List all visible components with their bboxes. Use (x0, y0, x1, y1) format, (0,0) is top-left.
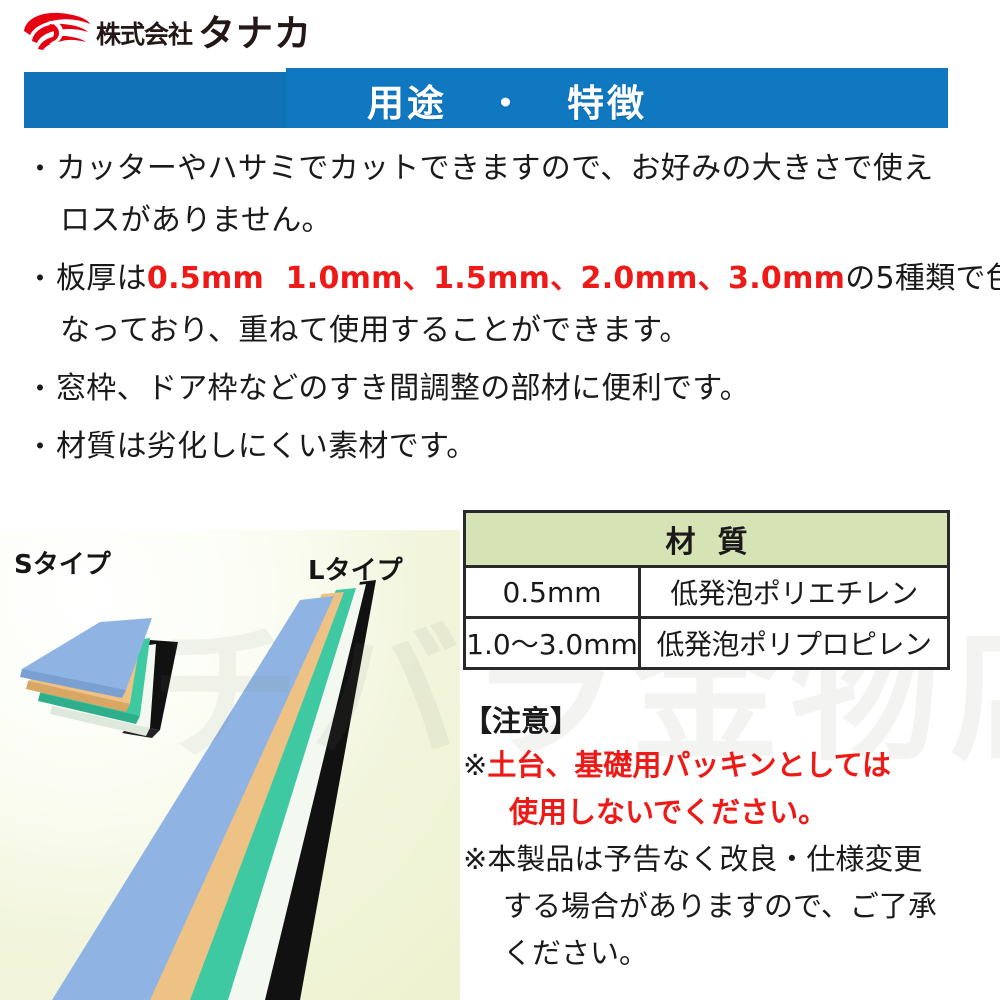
list-item-text: 板厚は0.5mm 1.0mm、1.5mm、2.0mm、3.0mmの5種類で色別に… (56, 253, 1000, 357)
caution-warning-line2: 使用しないでください。 (463, 789, 983, 836)
feature-list: ・ カッターやハサミでカットできますので、お好みの大きさで使え ロスがありません… (22, 143, 978, 479)
caution-block: 【注意】 ※土台、基礎用パッキンとしては 使用しないでください。 ※本製品は予告… (463, 700, 983, 977)
caution-disclaimer-line2: する場合がありますので、ご了承 (463, 883, 983, 930)
table-header-material: 材質 (465, 512, 949, 567)
brand-header: 株式会社 タナカ (0, 0, 1000, 62)
bullet-mark-icon: ・ (22, 253, 56, 305)
label-l-type: Lタイプ (308, 550, 403, 587)
material-table: 材質 0.5mm 低発泡ポリエチレン 1.0〜3.0mm 低発泡ポリプロピレン (463, 510, 950, 670)
label-s-type: Sタイプ (14, 544, 111, 581)
thickness-value: 3.0mm (728, 261, 845, 296)
thickness-value: 1.0mm (286, 261, 403, 296)
caution-disclaimer-line3: ください。 (463, 930, 983, 977)
company-name: タナカ (198, 15, 312, 52)
cell-material: 低発泡ポリエチレン (640, 567, 949, 618)
list-item-line: ロスがありません。 (56, 195, 978, 247)
note-mark-icon: ※ (463, 842, 487, 876)
bullet-mark-icon: ・ (22, 421, 56, 473)
cell-material: 低発泡ポリプロピレン (640, 618, 949, 669)
list-item-line: 材質は劣化しにくい素材です。 (56, 421, 978, 473)
list-item: ・ 材質は劣化しにくい素材です。 (22, 421, 978, 473)
caution-warning-line1: 土台、基礎用パッキンとしては (487, 748, 891, 782)
caution-note-disclaimer: ※本製品は予告なく改良・仕様変更 する場合がありますので、ご了承 ください。 (463, 836, 983, 977)
thickness-value: 0.5mm (147, 261, 264, 296)
section-banner: 用途 ・ 特徴 (24, 72, 948, 128)
s-type-sheet-stack (20, 618, 178, 738)
list-item-text: カッターやハサミでカットできますので、お好みの大きさで使え ロスがありません。 (56, 143, 978, 247)
note-mark-icon: ※ (463, 748, 487, 782)
bullet-mark-icon: ・ (22, 363, 56, 415)
list-item-line: 窓枠、ドア枠などのすき間調整の部材に便利です。 (56, 363, 978, 415)
thickness-value: 2.0mm (581, 261, 698, 296)
cell-thickness: 1.0〜3.0mm (465, 618, 640, 669)
caution-disclaimer-line1: 本製品は予告なく改良・仕様変更 (487, 842, 922, 876)
tanaka-swoosh-logo-icon (18, 11, 92, 53)
list-item-line: なっており、重ねて使用することができます。 (56, 305, 1000, 357)
table-header-row: 材質 (465, 512, 949, 567)
list-item-line: カッターやハサミでカットできますので、お好みの大きさで使え (56, 143, 978, 195)
caution-note-warning: ※土台、基礎用パッキンとしては 使用しないでください。 (463, 742, 983, 836)
list-item-text: 窓枠、ドア枠などのすき間調整の部材に便利です。 (56, 363, 978, 415)
table-row: 1.0〜3.0mm 低発泡ポリプロピレン (465, 618, 949, 669)
caution-title: 【注意】 (463, 700, 983, 742)
list-item: ・ 窓枠、ドア枠などのすき間調整の部材に便利です。 (22, 363, 978, 415)
company-prefix: 株式会社 (96, 15, 192, 51)
list-item-text: 材質は劣化しにくい素材です。 (56, 421, 978, 473)
section-title: 用途 ・ 特徴 (24, 72, 948, 128)
cell-thickness: 0.5mm (465, 567, 640, 618)
list-item-line: 板厚は0.5mm 1.0mm、1.5mm、2.0mm、3.0mmの5種類で色別に (56, 253, 1000, 305)
product-illustration: Sタイプ Lタイプ (0, 530, 460, 1000)
list-item: ・ 板厚は0.5mm 1.0mm、1.5mm、2.0mm、3.0mmの5種類で色… (22, 253, 978, 357)
list-item: ・ カッターやハサミでカットできますので、お好みの大きさで使え ロスがありません… (22, 143, 978, 247)
thickness-prefix: 板厚は (56, 261, 147, 296)
brand-wordmark: 株式会社 タナカ (96, 12, 312, 54)
table-row: 0.5mm 低発泡ポリエチレン (465, 567, 949, 618)
bullet-mark-icon: ・ (22, 143, 56, 195)
thickness-suffix: の5種類で色別に (845, 261, 1000, 296)
thickness-value: 1.5mm (433, 261, 550, 296)
product-sheets-graphic (0, 530, 460, 1000)
